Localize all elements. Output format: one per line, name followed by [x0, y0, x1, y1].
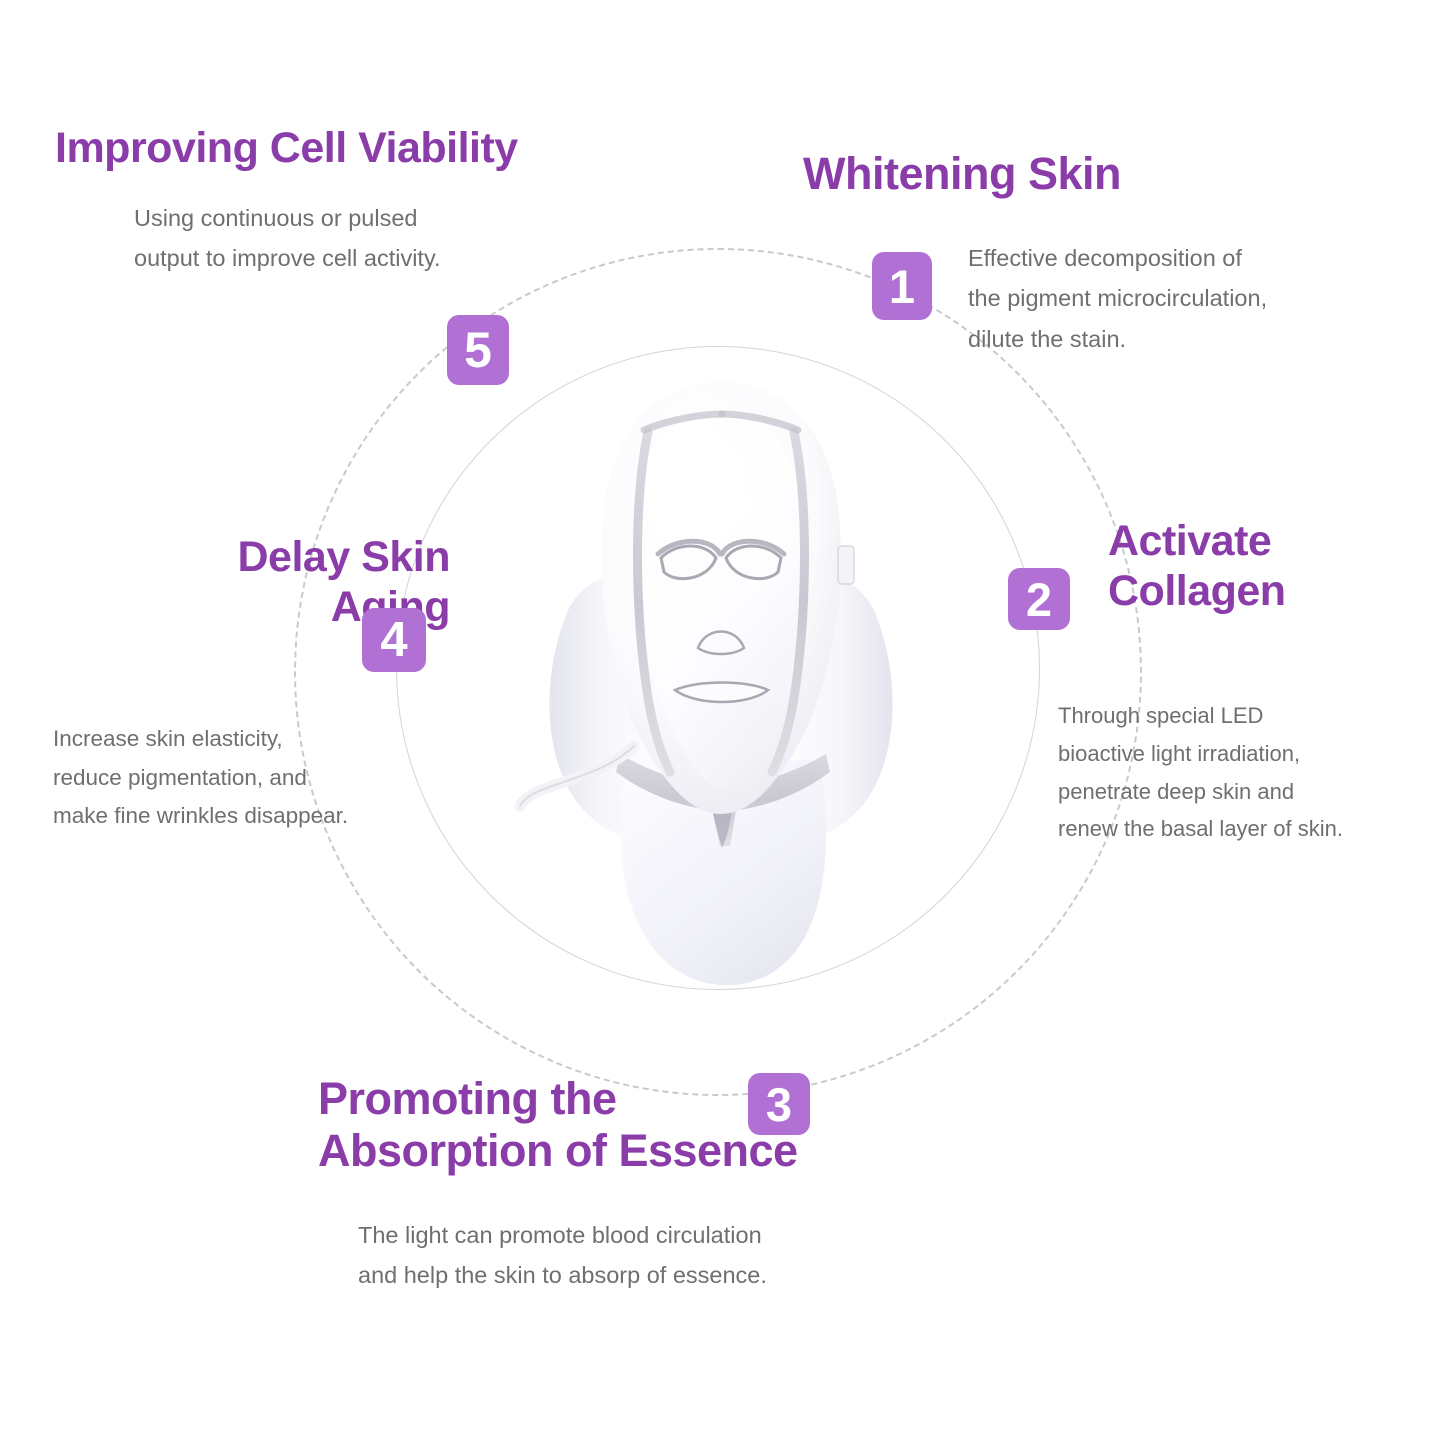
feature-badge-5: 5: [447, 315, 509, 385]
feature-title-activate-collagen: Activate Collagen: [1108, 517, 1286, 617]
feature-badge-3: 3: [748, 1073, 810, 1135]
feature-body-improving-cell-viability: Using continuous or pulsed output to imp…: [134, 198, 441, 279]
feature-body-promoting-absorption-of-essence: The light can promote blood circulation …: [358, 1215, 767, 1296]
feature-badge-1: 1: [872, 252, 932, 320]
feature-title-promoting-absorption-of-essence: Promoting the Absorption of Essence: [318, 1073, 798, 1177]
feature-body-activate-collagen: Through special LED bioactive light irra…: [1058, 697, 1343, 848]
led-face-mask-image: [498, 368, 944, 998]
feature-badge-2: 2: [1008, 568, 1070, 630]
infographic-canvas: Improving Cell Viability Using continuou…: [0, 0, 1445, 1445]
feature-body-delay-skin-aging: Increase skin elasticity, reduce pigment…: [53, 720, 348, 836]
feature-title-improving-cell-viability: Improving Cell Viability: [55, 124, 518, 174]
feature-badge-4: 4: [362, 608, 426, 672]
feature-body-whitening-skin: Effective decomposition of the pigment m…: [968, 238, 1267, 359]
feature-title-whitening-skin: Whitening Skin: [803, 148, 1121, 200]
